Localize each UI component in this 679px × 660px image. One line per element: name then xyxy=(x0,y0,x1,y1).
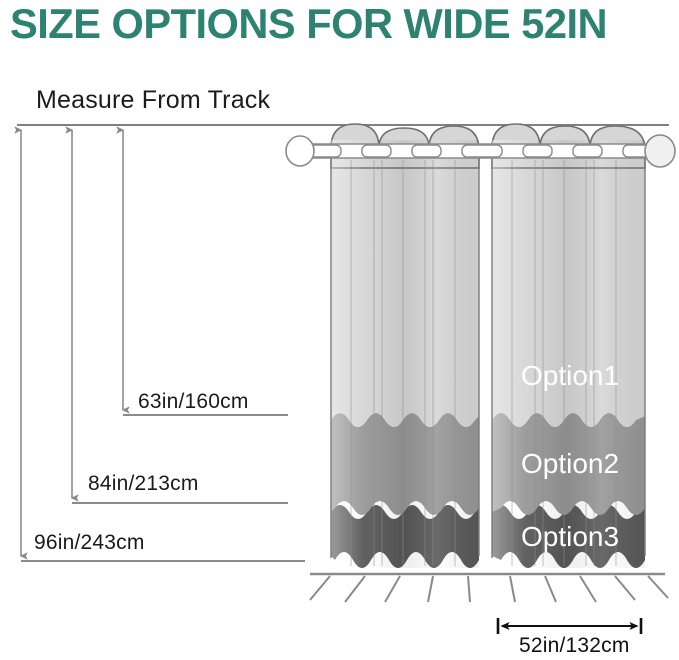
rod-finial-left xyxy=(286,136,314,166)
curtain-panel-right xyxy=(492,124,645,570)
curtain-panel-left xyxy=(331,124,479,570)
option2-label: Option2 xyxy=(521,448,619,479)
option3-label: Option3 xyxy=(521,521,619,552)
vertical-dimension-lines xyxy=(21,130,305,561)
product-size-diagram: SIZE OPTIONS FOR WIDE 52IN Measure From … xyxy=(0,0,679,660)
rod-finial-right xyxy=(645,135,675,167)
diagram-graphics: Option1 Option2 Option3 xyxy=(0,0,679,660)
floor xyxy=(310,574,668,602)
width-dimension-line xyxy=(498,618,641,634)
floor-hatching xyxy=(310,576,668,602)
option1-label: Option1 xyxy=(521,360,619,391)
